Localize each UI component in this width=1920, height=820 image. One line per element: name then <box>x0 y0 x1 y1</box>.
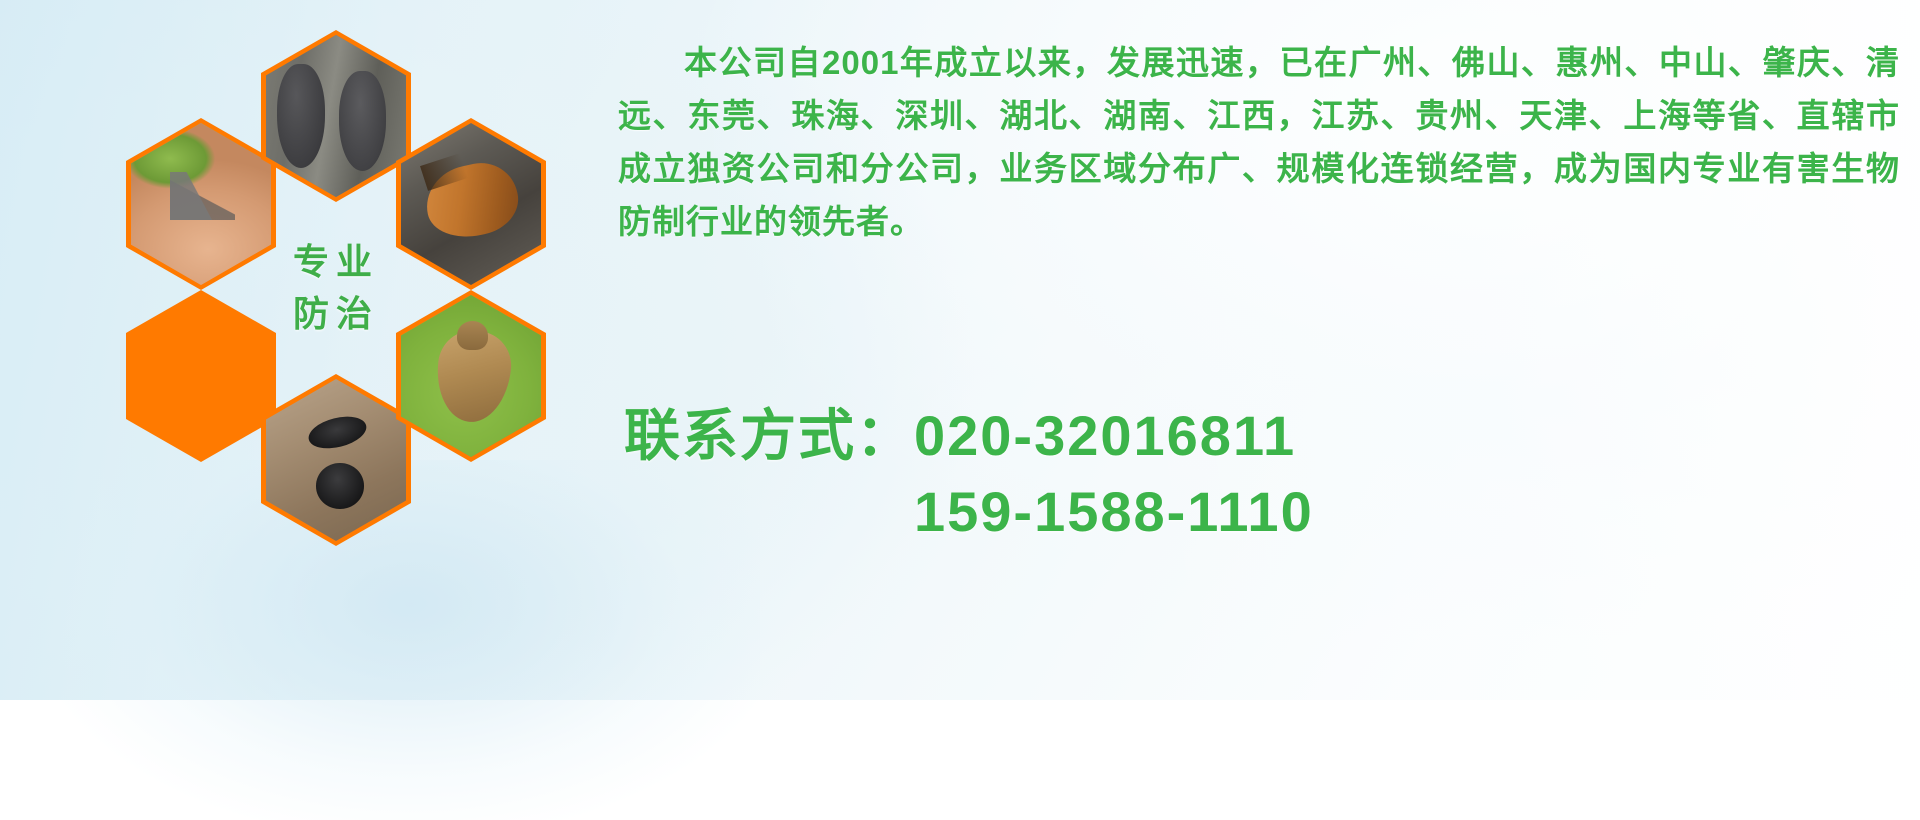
intro-text-block: 本公司自2001年成立以来，发展迅速，已在广州、佛山、惠州、中山、肇庆、清远、东… <box>618 36 1900 248</box>
hex-photo-mosquito <box>126 118 276 290</box>
hex-logo-text: 专业 防治 <box>261 202 411 374</box>
hex-photo-flies <box>126 290 276 462</box>
promo-banner: 专业 防治 本公司自2001年成立以来，发展迅速，已在广州、佛山、惠州、中山、肇… <box>0 0 1920 700</box>
rat-icon <box>266 35 406 197</box>
hexagon-image-cluster: 专业 防治 <box>96 8 596 568</box>
cockroach-icon <box>401 123 541 285</box>
company-intro-paragraph: 本公司自2001年成立以来，发展迅速，已在广州、佛山、惠州、中山、肇庆、清远、东… <box>618 36 1900 248</box>
hex-photo-rats <box>261 30 411 202</box>
contact-line-secondary: 159-1588-1110 <box>624 474 1914 550</box>
fly-icon <box>131 295 271 457</box>
hex-photo-ant <box>261 374 411 546</box>
mosquito-icon <box>131 123 271 285</box>
stink-bug-icon <box>401 295 541 457</box>
logo-line-1: 专业 <box>293 236 379 288</box>
hex-photo-stink-bug <box>396 290 546 462</box>
ant-icon <box>266 379 406 541</box>
contact-line-primary: 联系方式：020-32016811 <box>624 398 1914 474</box>
logo-line-2: 防治 <box>293 288 379 340</box>
hex-photo-cockroach <box>396 118 546 290</box>
contact-block: 联系方式：020-32016811 159-1588-1110 <box>624 398 1914 550</box>
